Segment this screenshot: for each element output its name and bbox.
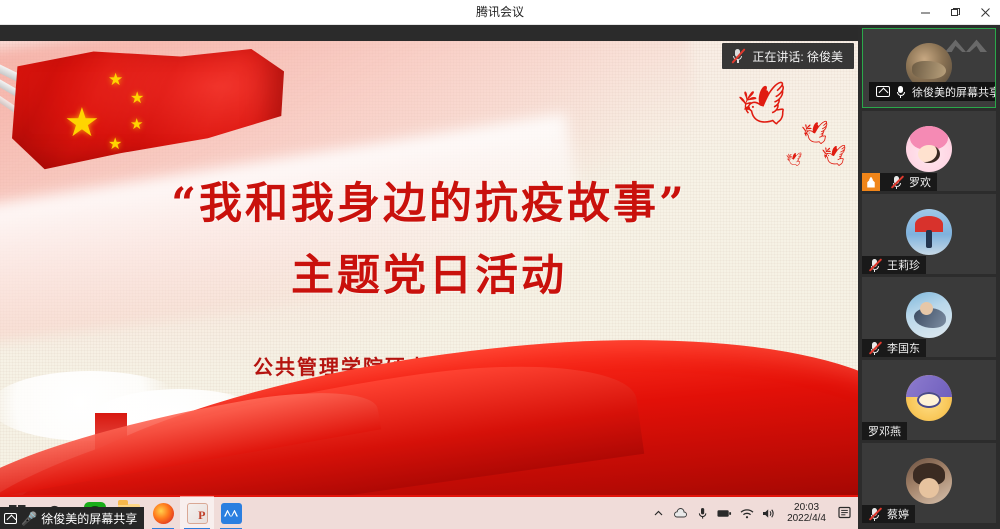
clock-date: 2022/4/4 — [787, 513, 826, 524]
participant-name: 蔡婷 — [885, 506, 909, 522]
powerpoint-icon — [187, 503, 208, 524]
window-title: 腾讯会议 — [0, 0, 1000, 25]
avatar — [906, 126, 952, 172]
clock-time: 20:03 — [787, 502, 826, 513]
chevron-up-icon[interactable] — [651, 506, 666, 521]
maximize-button[interactable] — [940, 0, 970, 25]
onedrive-cloud-icon[interactable] — [673, 506, 688, 521]
tile-name-bar: 王莉珍 — [862, 256, 926, 274]
system-tray: 20:03 2022/4/4 — [651, 496, 858, 529]
tile-name-bar: 李国东 — [862, 339, 926, 357]
host-badge-icon — [862, 173, 880, 191]
tencent-meeting-window: 腾讯会议 — [0, 0, 1000, 529]
firefox-icon — [153, 503, 174, 524]
dove-icon-4: 🕊 — [821, 146, 848, 169]
tile-name-bar: 蔡婷 — [862, 505, 915, 523]
slide-title-line-2: 主题党日活动 — [0, 241, 858, 303]
tile-name-bar: 罗欢 — [862, 173, 937, 191]
shared-screen-top-strip — [0, 25, 858, 41]
mic-muted-icon — [868, 507, 881, 521]
mic-muted-icon — [868, 341, 881, 355]
shared-screen-area[interactable]: ★ ★ ★ ★ ★ 🕊 🕊 🕊 🕊 “我和我身边的抗疫故事” 主题党日活动 公共… — [0, 25, 858, 529]
minimize-button[interactable] — [910, 0, 940, 25]
battery-icon[interactable] — [717, 506, 732, 521]
participant-tile-share[interactable]: 徐俊美的屏幕共享 — [862, 28, 996, 108]
chinese-flag-graphic: ★ ★ ★ ★ ★ — [0, 47, 306, 187]
flag-star-small-icon-2: ★ — [130, 91, 144, 107]
speaking-banner-text: 正在讲话: 徐俊美 — [752, 48, 843, 65]
participant-tile-luodengyan[interactable]: 罗邓燕 — [862, 360, 996, 440]
mic-on-icon — [895, 85, 906, 99]
screen-share-icon — [4, 513, 17, 524]
presentation-slide: ★ ★ ★ ★ ★ 🕊 🕊 🕊 🕊 “我和我身边的抗疫故事” 主题党日活动 公共… — [0, 41, 858, 513]
avatar — [906, 458, 952, 504]
firefox-app-button[interactable] — [146, 496, 180, 529]
window-controls — [910, 0, 1000, 25]
dove-icon-2: 🕊 — [801, 121, 832, 147]
avatar — [906, 209, 952, 255]
flag-star-small-icon-3: ★ — [130, 117, 143, 132]
avatar — [906, 292, 952, 338]
powerpoint-app-button[interactable] — [180, 496, 214, 529]
flag-star-large-icon: ★ — [64, 103, 100, 143]
mic-muted-icon — [890, 175, 903, 189]
wifi-icon[interactable] — [739, 506, 754, 521]
participant-name: 徐俊美的屏幕共享 — [912, 84, 996, 100]
clock[interactable]: 20:03 2022/4/4 — [783, 502, 830, 524]
city-skyline-graphic — [0, 363, 858, 513]
tile-share-label: 徐俊美的屏幕共享 — [869, 82, 996, 101]
tile-name-bar: 罗邓燕 — [862, 422, 907, 440]
title-bar: 腾讯会议 — [0, 0, 1000, 25]
flag-body: ★ ★ ★ ★ ★ — [12, 49, 284, 173]
participant-tile-luohuan[interactable]: 罗欢 — [862, 111, 996, 191]
participant-name: 罗欢 — [907, 174, 931, 190]
microphone-icon[interactable] — [695, 506, 710, 521]
flag-fold-shading — [12, 49, 284, 173]
flag-star-small-icon-1: ★ — [108, 71, 123, 88]
participant-tile-caiting[interactable]: 蔡婷 — [862, 443, 996, 523]
tencent-meeting-app-button[interactable] — [214, 496, 248, 529]
participant-name: 李国东 — [885, 340, 920, 356]
participant-panel[interactable]: 徐俊美的屏幕共享 罗欢 — [858, 25, 1000, 529]
dove-icon-1: 🕊 — [736, 81, 795, 132]
screen-share-label-text: 徐俊美的屏幕共享 — [41, 510, 137, 527]
screen-share-icon — [876, 86, 890, 97]
mic-muted-icon — [730, 48, 745, 64]
speaking-banner: 正在讲话: 徐俊美 — [722, 43, 854, 69]
slide-title-line-1: “我和我身边的抗疫故事” — [0, 169, 858, 231]
participant-tile-liguodong[interactable]: 李国东 — [862, 277, 996, 357]
participant-name: 王莉珍 — [885, 257, 920, 273]
close-button[interactable] — [970, 0, 1000, 25]
participant-name: 罗邓燕 — [862, 423, 901, 439]
volume-icon[interactable] — [761, 506, 776, 521]
dove-icon-3: 🕊 — [786, 152, 803, 166]
flag-star-small-icon-4: ★ — [108, 137, 122, 153]
mic-on-icon: 🎤 — [21, 512, 37, 525]
participant-tile-wanglizhen[interactable]: 王莉珍 — [862, 194, 996, 274]
mic-muted-icon — [868, 258, 881, 272]
avatar — [906, 375, 952, 421]
notification-icon[interactable] — [837, 506, 852, 521]
tencent-meeting-icon — [221, 503, 242, 524]
screen-share-label: 🎤 徐俊美的屏幕共享 — [0, 507, 144, 529]
